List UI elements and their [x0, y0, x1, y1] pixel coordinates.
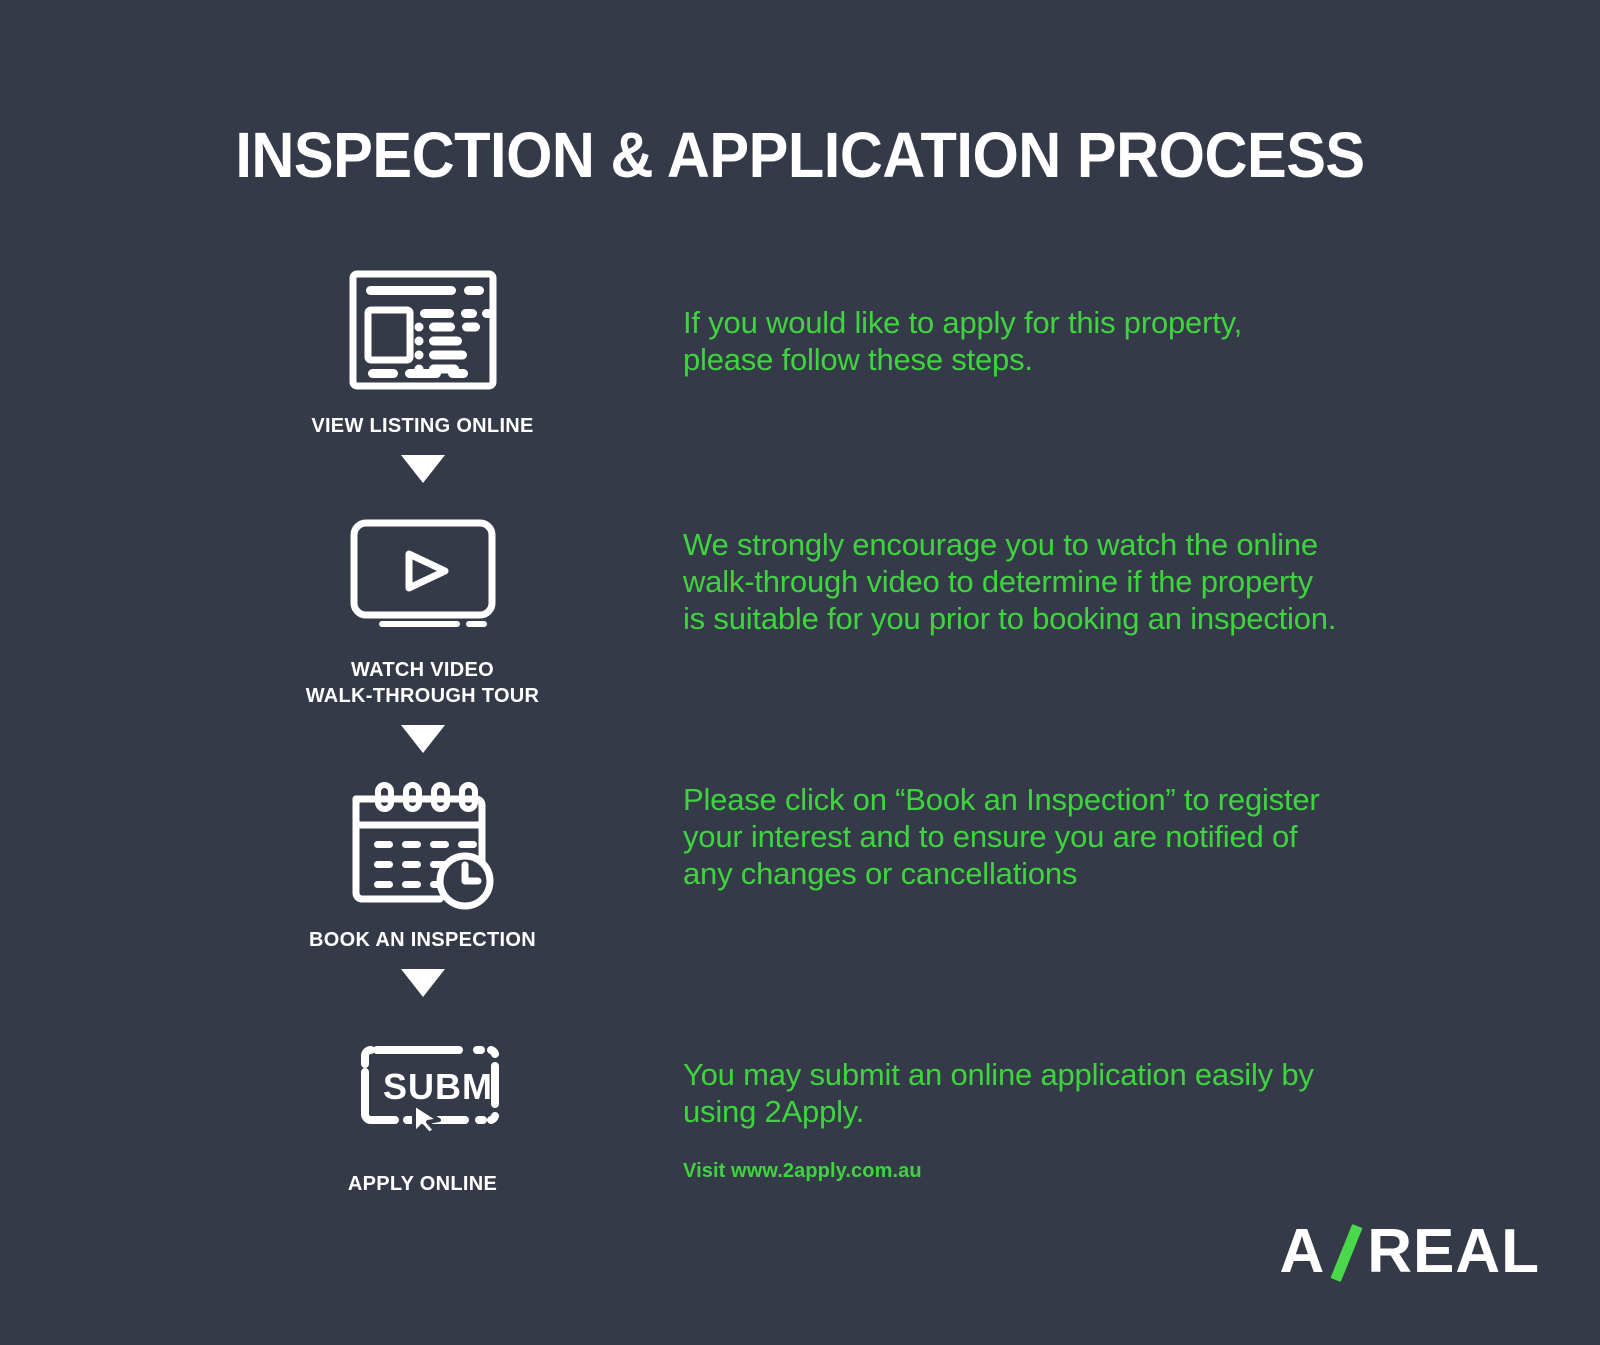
- visit-url-link[interactable]: Visit www.2apply.com.au: [683, 1160, 922, 1183]
- browser-listing-icon: [280, 255, 565, 405]
- copy-block-intro: If you would like to apply for this prop…: [683, 305, 1443, 379]
- brand-logo[interactable]: A REAL: [1279, 1221, 1540, 1283]
- step-label: BOOK AN INSPECTION: [280, 927, 565, 953]
- logo-slash-icon: [1329, 1226, 1363, 1278]
- logo-letter-a: A: [1279, 1221, 1325, 1283]
- svg-text:SUBMIT: SUBMIT: [383, 1066, 499, 1107]
- step-label: VIEW LISTING ONLINE: [280, 413, 565, 439]
- step-view-listing: VIEW LISTING ONLINE: [280, 255, 565, 439]
- infographic-page: INSPECTION & APPLICATION PROCESS: [0, 0, 1600, 1345]
- step-apply-online: SUBMIT APPLY ONLINE: [280, 1013, 565, 1197]
- copy-block-inspection: Please click on “Book an Inspection” to …: [683, 782, 1443, 893]
- submit-button-cursor-icon: SUBMIT: [280, 1013, 565, 1163]
- step-label: APPLY ONLINE: [280, 1171, 565, 1197]
- flow-arrow-down-icon: [401, 969, 445, 997]
- step-label: WATCH VIDEO WALK-THROUGH TOUR: [280, 657, 565, 709]
- logo-word-real: REAL: [1367, 1221, 1540, 1283]
- video-play-monitor-icon: [280, 499, 565, 649]
- process-flow: VIEW LISTING ONLINE WATCH VIDEO WALK-THR…: [280, 255, 565, 1197]
- copy-block-apply: You may submit an online application eas…: [683, 1057, 1443, 1131]
- calendar-clock-icon: [280, 769, 565, 919]
- step-watch-video: WATCH VIDEO WALK-THROUGH TOUR: [280, 499, 565, 709]
- step-book-inspection: BOOK AN INSPECTION: [280, 769, 565, 953]
- copy-block-video: We strongly encourage you to watch the o…: [683, 527, 1443, 638]
- flow-arrow-down-icon: [401, 455, 445, 483]
- page-title: INSPECTION & APPLICATION PROCESS: [56, 118, 1544, 192]
- flow-arrow-down-icon: [401, 725, 445, 753]
